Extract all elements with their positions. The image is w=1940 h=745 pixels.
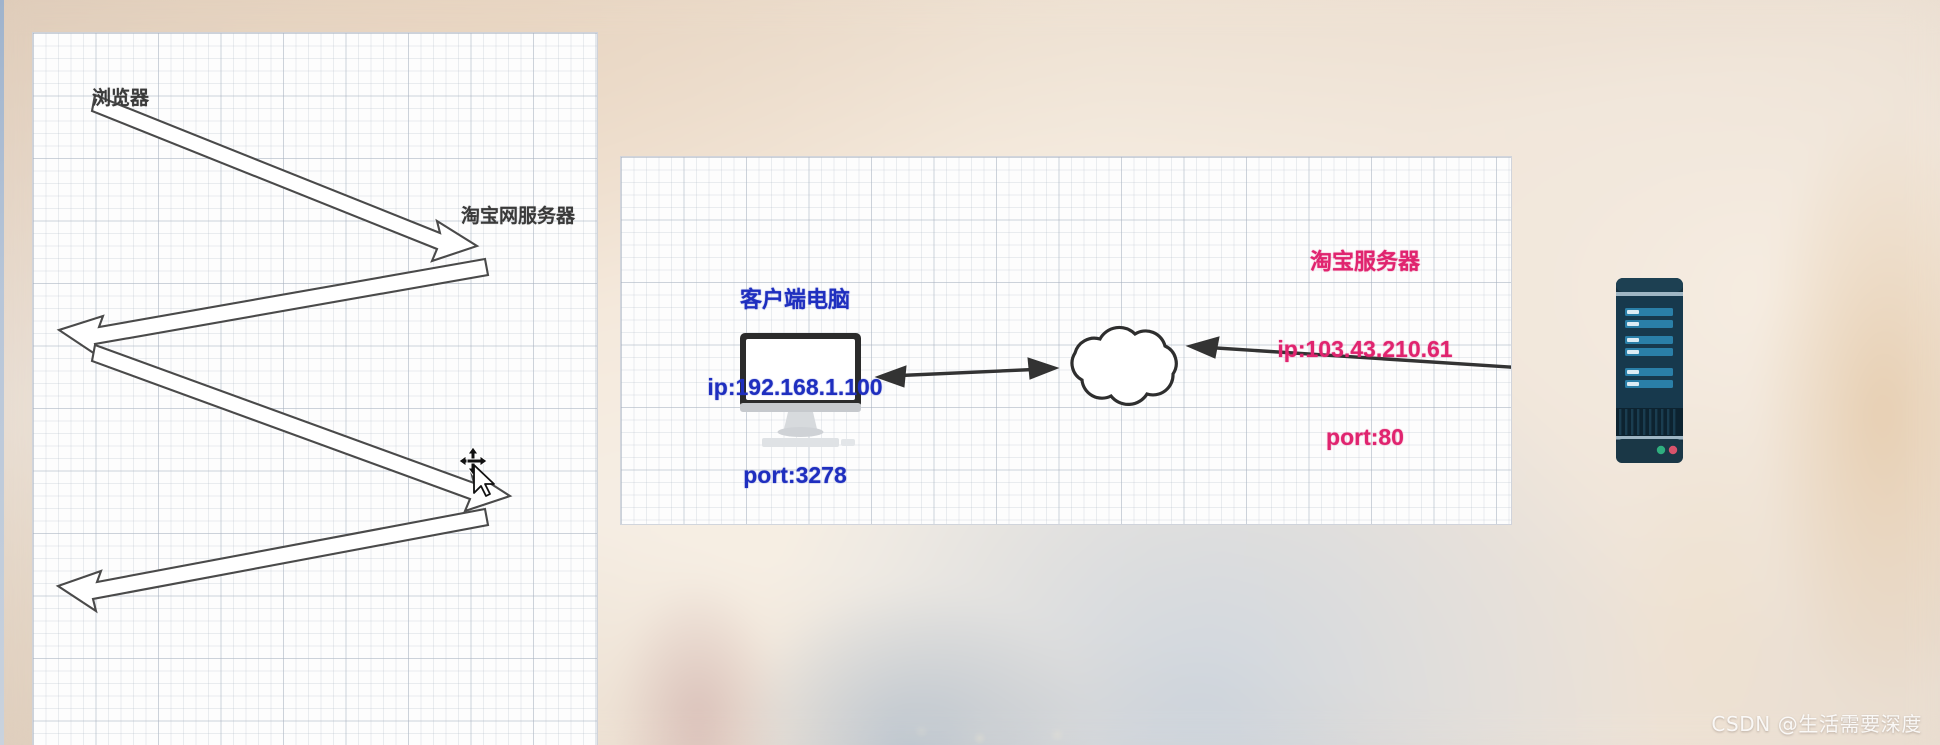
arrow-pointer-icon	[474, 465, 494, 496]
server-rack-icon	[1613, 278, 1686, 463]
client-info-label: 客户端电脑 ip:192.168.1.100 port:3278	[660, 227, 930, 520]
server-info-label: 淘宝服务器 ip:103.43.210.61 port:80	[1220, 189, 1510, 482]
mouse-cursor	[456, 443, 502, 505]
server-led-green	[1657, 446, 1665, 454]
server-led-red	[1669, 446, 1677, 454]
client-title: 客户端电脑	[660, 286, 930, 314]
window-left-edge	[0, 0, 4, 745]
client-port: port:3278	[660, 461, 930, 490]
server-port: port:80	[1220, 423, 1510, 452]
server-ip: ip:103.43.210.61	[1220, 335, 1510, 364]
taobao-server-label: 淘宝网服务器	[461, 205, 575, 229]
csdn-watermark: CSDN @生活需要深度	[1711, 708, 1922, 737]
four-way-move-icon	[459, 447, 487, 475]
client-ip: ip:192.168.1.100	[660, 373, 930, 402]
cloud-icon	[1072, 327, 1176, 404]
browser-label: 浏览器	[92, 87, 149, 111]
server-title: 淘宝服务器	[1220, 248, 1510, 276]
zigzag-diagram-panel: 浏览器 淘宝网服务器	[33, 33, 597, 745]
zigzag-labels: 浏览器 淘宝网服务器	[33, 33, 597, 745]
